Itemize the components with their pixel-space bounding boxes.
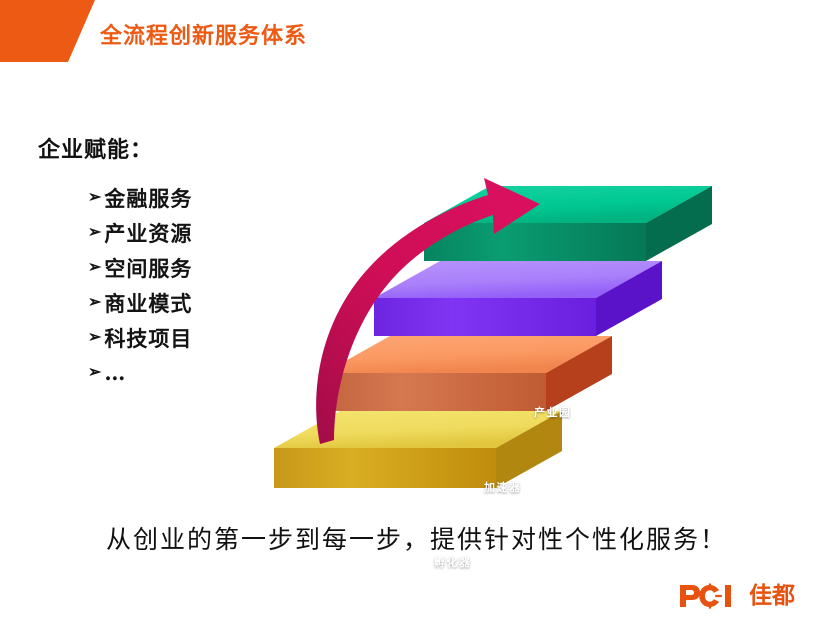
arrow-bullet-icon: ➢ [88,224,102,240]
slab-label-fuhuaqi: 孵化器 [434,554,472,570]
list-item-label: 金融服务 [104,183,192,213]
page-title: 全流程创新服务体系 [100,18,307,50]
arrow-bullet-icon: ➢ [88,259,102,275]
enablement-list: ➢ 金融服务 ➢ 产业资源 ➢ 空间服务 ➢ 商业模式 ➢ 科技项目 ➢ … [88,180,268,390]
ladder-svg [262,168,782,498]
list-item-label: 空间服务 [104,253,192,283]
list-item: ➢ 金融服务 [88,180,268,215]
incubation-ladder-diagram: 产业园 加速器 孵化器 创业苗圃 [262,168,782,498]
layer-slab-jiasuqi [374,261,662,336]
arrow-bullet-icon: ➢ [88,189,102,205]
slide-header: 全流程创新服务体系 [0,0,833,62]
enablement-panel: 企业赋能： ➢ 金融服务 ➢ 产业资源 ➢ 空间服务 ➢ 商业模式 ➢ 科技项目 [38,132,268,390]
slide-canvas: 全流程创新服务体系 企业赋能： ➢ 金融服务 ➢ 产业资源 ➢ 空间服务 ➢ 商… [0,0,833,624]
list-item-label: … [104,360,126,385]
list-item: ➢ 产业资源 [88,215,268,250]
arrow-bullet-icon: ➢ [88,294,102,310]
list-item: ➢ … [88,355,268,390]
pci-logo-icon [678,583,744,609]
slide-caption: 从创业的第一步到每一步，提供针对性个性化服务！ [0,520,833,556]
header-accent-shape [0,0,110,62]
logo-chinese-text: 佳都 [749,585,795,608]
brand-logo: 佳都 [678,580,813,612]
enablement-heading: 企业赋能： [38,132,268,164]
list-item-label: 商业模式 [104,288,192,318]
arrow-bullet-icon: ➢ [88,364,102,380]
list-item-label: 产业资源 [104,218,192,248]
layer-slab-fuhuaqi [324,336,612,411]
arrow-bullet-icon: ➢ [88,329,102,345]
list-item: ➢ 科技项目 [88,320,268,355]
list-item: ➢ 商业模式 [88,285,268,320]
list-item: ➢ 空间服务 [88,250,268,285]
list-item-label: 科技项目 [104,323,192,353]
